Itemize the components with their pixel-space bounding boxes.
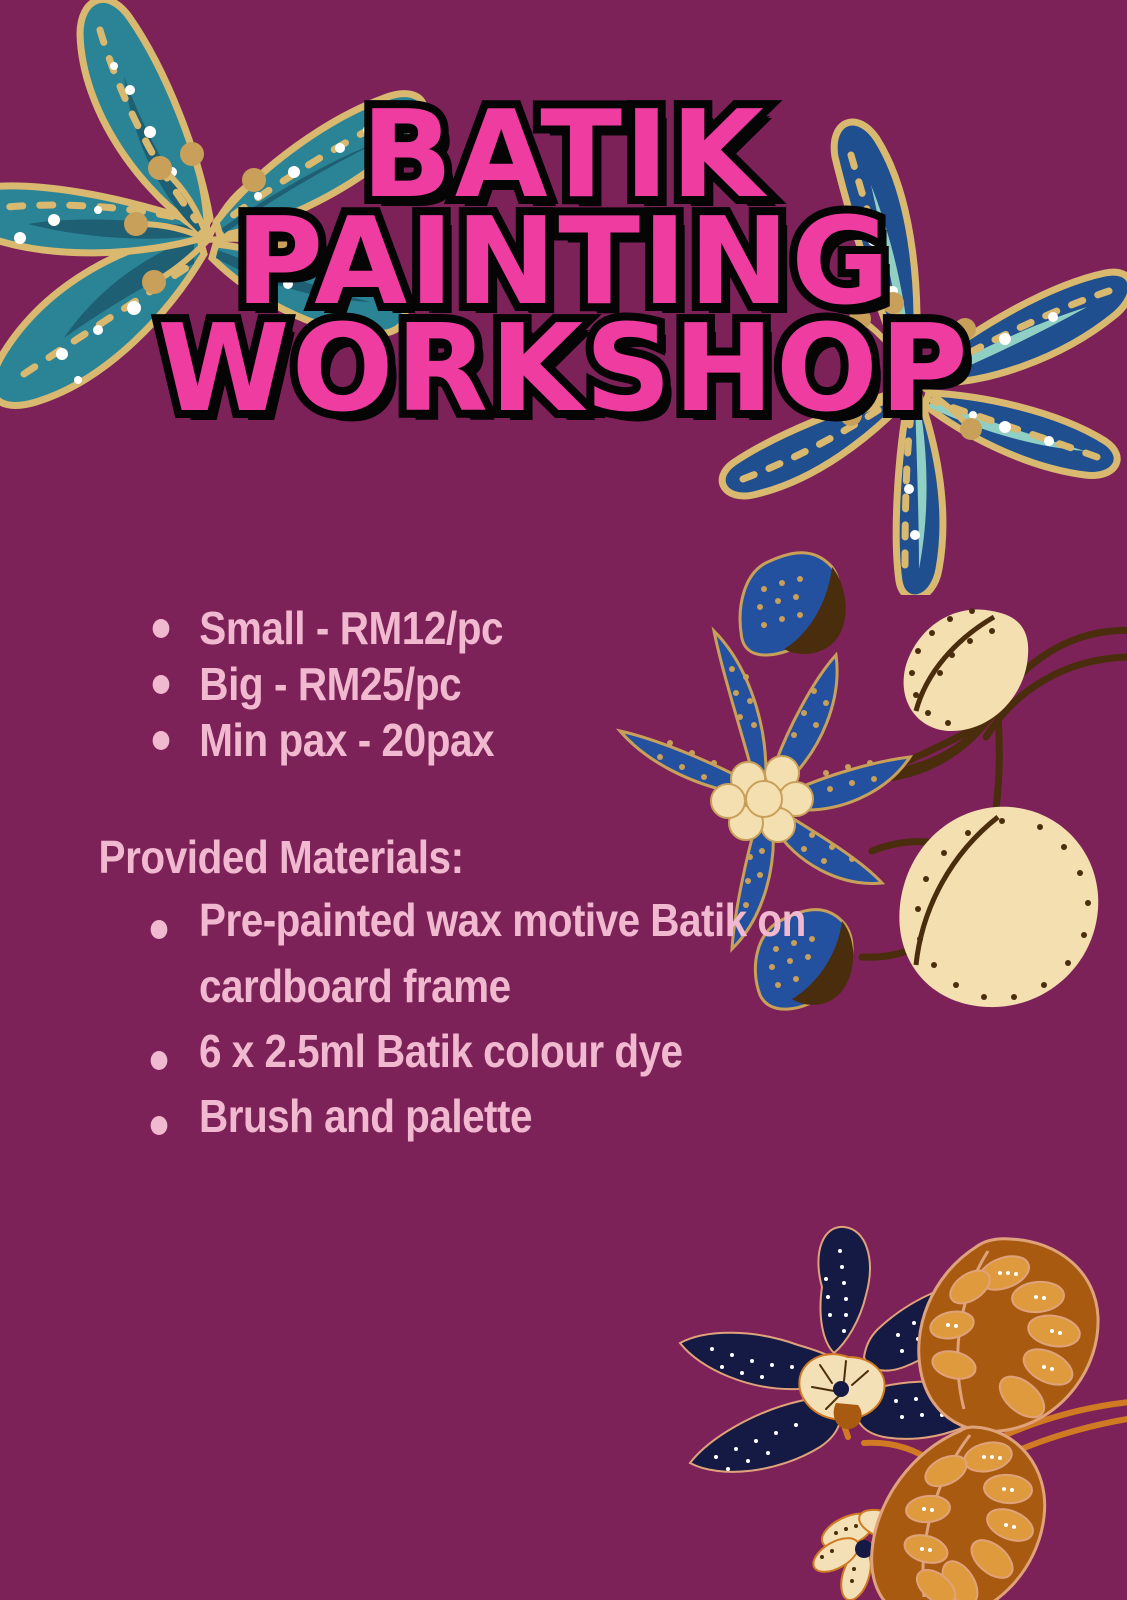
batik-navy-flower-branch-icon (640, 1225, 1127, 1600)
pricing-list: Small - RM12/pc Big - RM25/pc Min pax - … (0, 600, 1127, 768)
title-line-3: WORKSHOP (0, 314, 1127, 427)
list-item: 6 x 2.5ml Batik colour dye (148, 1019, 973, 1084)
poster-title: BATIK PAINTING WORKSHOP (0, 100, 1127, 426)
poster-content: Small - RM12/pc Big - RM25/pc Min pax - … (0, 600, 1127, 1150)
list-item: Small - RM12/pc (150, 600, 1010, 656)
materials-heading: Provided Materials: (0, 830, 992, 884)
materials-list: Pre-painted wax motive Batik on cardboar… (0, 888, 1127, 1149)
list-item: Min pax - 20pax (150, 712, 1010, 768)
list-item: Big - RM25/pc (150, 656, 1010, 712)
list-item: Brush and palette (148, 1084, 973, 1149)
poster-canvas: BATIK PAINTING WORKSHOP Small - RM12/pc … (0, 0, 1127, 1600)
list-item: Pre-painted wax motive Batik on cardboar… (148, 888, 973, 1019)
